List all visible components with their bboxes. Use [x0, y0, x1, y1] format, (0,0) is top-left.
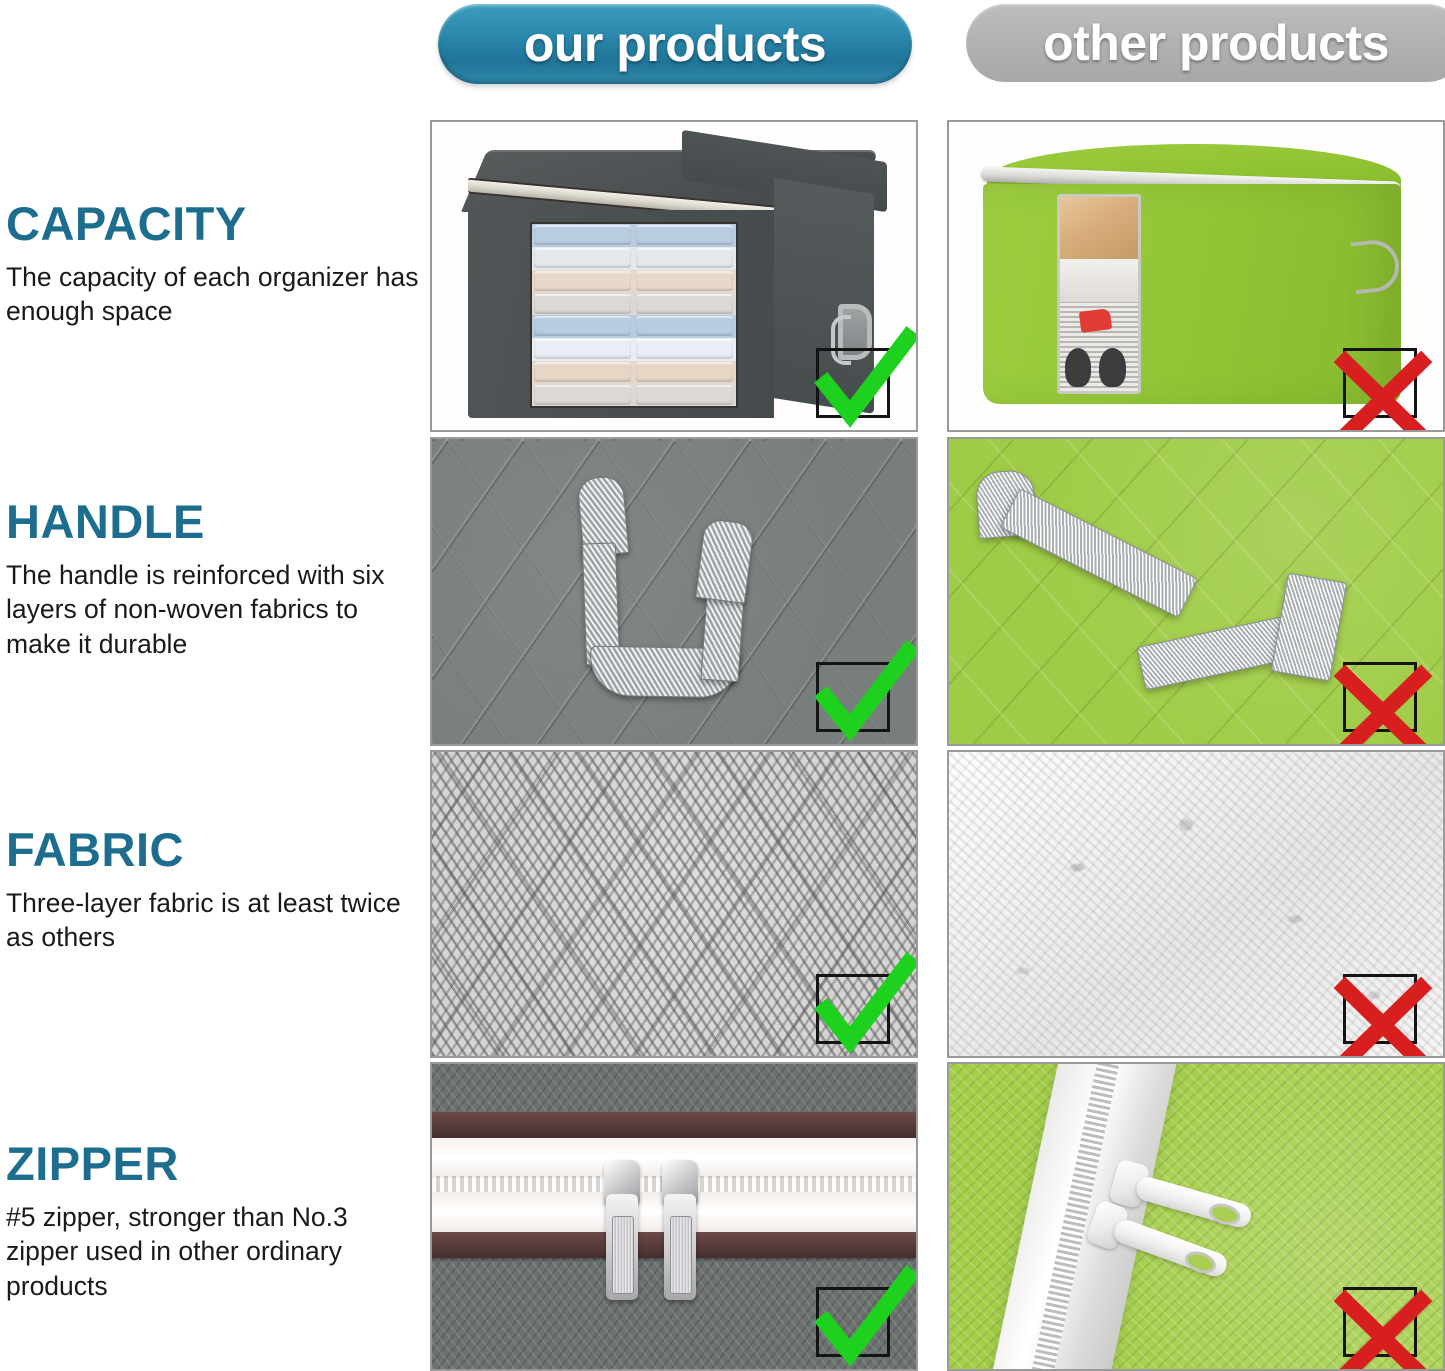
zipper-pull-tab	[606, 1194, 638, 1300]
window-contents-knitwear	[1060, 197, 1138, 259]
photo-capacity-other-product	[947, 120, 1445, 432]
green-check-mark	[816, 1287, 904, 1359]
feature-text-fabric: FABRIC Three-layer fabric is at least tw…	[6, 826, 424, 955]
folded-cloth	[532, 292, 736, 315]
feature-description-handle: The handle is reinforced with six layers…	[6, 558, 424, 661]
red-cross-mark	[1343, 974, 1431, 1046]
feature-description-capacity: The capacity of each organizer has enoug…	[6, 260, 424, 329]
feature-title-zipper: ZIPPER	[6, 1140, 424, 1187]
photo-zipper-other-product	[947, 1062, 1445, 1371]
red-cross-mark	[1343, 662, 1431, 734]
folded-cloth	[532, 315, 736, 338]
green-bag-clear-window	[1057, 194, 1141, 394]
handle-strap-right-loop	[695, 518, 754, 603]
product-comparison-infographic: our products other products CAPACITY The…	[0, 0, 1445, 1371]
folded-cloth	[532, 247, 736, 270]
photo-zipper-our-product	[430, 1062, 918, 1371]
feature-text-capacity: CAPACITY The capacity of each organizer …	[6, 200, 424, 329]
red-cross-mark	[1343, 348, 1431, 420]
photo-capacity-our-product	[430, 120, 918, 432]
zipper-piping-top	[432, 1112, 916, 1138]
window-contents-white-cloth	[1060, 259, 1138, 302]
photo-handle-other-product	[947, 437, 1445, 746]
red-cross-mark	[1343, 1287, 1431, 1359]
zipper-pull-tab	[664, 1194, 696, 1300]
photo-handle-our-product	[430, 437, 918, 746]
feature-title-capacity: CAPACITY	[6, 200, 424, 247]
feature-title-fabric: FABRIC	[6, 826, 424, 873]
photo-fabric-other-product	[947, 750, 1445, 1058]
folded-cloth	[532, 383, 736, 406]
zipper-pull-right	[662, 1160, 698, 1308]
header-pill-other-products: other products	[966, 4, 1445, 82]
feature-text-zipper: ZIPPER #5 zipper, stronger than No.3 zip…	[6, 1140, 424, 1303]
feature-text-handle: HANDLE The handle is reinforced with six…	[6, 498, 424, 661]
folded-cloth	[532, 224, 736, 247]
bag-clear-window	[530, 222, 738, 408]
folded-cloth	[532, 270, 736, 293]
photo-fabric-our-product	[430, 750, 918, 1058]
folded-cloth	[532, 338, 736, 361]
other-products-label: other products	[1043, 14, 1389, 72]
window-contents-dark-item-right	[1099, 348, 1126, 387]
green-check-mark	[816, 974, 904, 1046]
green-check-mark	[816, 662, 904, 734]
header-pill-our-products: our products	[438, 4, 912, 84]
window-contents-dark-item-left	[1065, 348, 1092, 387]
feature-description-zipper: #5 zipper, stronger than No.3 zipper use…	[6, 1200, 424, 1303]
window-contents-red-item	[1079, 308, 1113, 333]
folded-cloth	[532, 361, 736, 384]
zipper-pull-left	[604, 1160, 640, 1308]
feature-title-handle: HANDLE	[6, 498, 424, 545]
green-check-mark	[816, 348, 904, 420]
feature-description-fabric: Three-layer fabric is at least twice as …	[6, 886, 424, 955]
our-products-label: our products	[524, 15, 826, 73]
